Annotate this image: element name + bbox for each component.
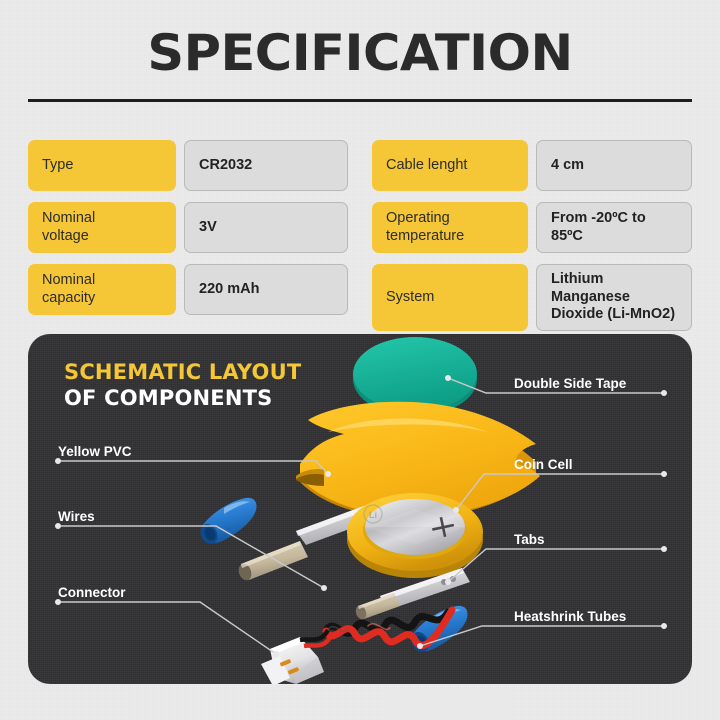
heatshrink-tube-part [354,593,400,621]
spec-key: Type [28,140,176,191]
callout-label-double-side-tape: Double Side Tape [514,376,626,391]
tab-strip-lower-part [354,568,470,621]
spec-row: Operatingtemperature From -20ºC to 85ºC [372,202,692,253]
spec-value: CR2032 [184,140,348,191]
page-header: SPECIFICATION [0,28,720,78]
title-divider [28,99,692,102]
spec-column-right: Cable lenght 4 cm Operatingtemperature F… [372,140,692,331]
tab-strip-upper-part [296,500,390,545]
callout-label-connector: Connector [58,585,126,600]
spec-row: Nominalcapacity 220 mAh [28,264,348,315]
spec-key: Nominalvoltage [28,202,176,253]
spec-key: System [372,264,528,331]
spec-value: From -20ºC to 85ºC [536,202,692,253]
callout-label-yellow-pvc: Yellow PVC [58,444,132,459]
schematic-panel: SCHEMATIC LAYOUT OF COMPONENTS [28,334,692,684]
battery-polarity-mark [432,517,454,537]
spec-row: Cable lenght 4 cm [372,140,692,191]
double-side-tape-part [353,337,477,416]
connector-part [261,630,332,684]
spec-key: Nominalcapacity [28,264,176,315]
spec-column-left: Type CR2032 Nominalvoltage 3V Nominalcap… [28,140,348,331]
yellow-pvc-part [296,402,540,518]
svg-text:Li: Li [369,510,377,520]
spec-row: System Lithium ManganeseDioxide (Li-MnO2… [372,264,692,331]
spec-key: Operatingtemperature [372,202,528,253]
callout-label-wires: Wires [58,509,95,524]
callout-label-heatshrink-tubes: Heatshrink Tubes [514,609,626,624]
schematic-title: SCHEMATIC LAYOUT OF COMPONENTS [64,360,301,411]
specification-table: Type CR2032 Nominalvoltage 3V Nominalcap… [28,140,692,331]
callout-label-tabs: Tabs [514,532,545,547]
blue-tube-lower-part [408,606,468,655]
spec-key: Cable lenght [372,140,528,191]
spec-row: Type CR2032 [28,140,348,191]
twisted-wires-part [326,610,452,645]
schematic-title-line-2: OF COMPONENTS [64,386,301,412]
schematic-title-line-1: SCHEMATIC LAYOUT [64,360,301,386]
spec-value: 3V [184,202,348,253]
spec-value: 220 mAh [184,264,348,315]
spec-value: Lithium ManganeseDioxide (Li-MnO2) [536,264,692,331]
callout-label-coin-cell: Coin Cell [514,457,573,472]
heatshrink-tube-part [236,541,308,582]
spec-value: 4 cm [536,140,692,191]
page-title: SPECIFICATION [0,28,720,78]
blue-tube-upper-part [197,498,257,547]
spec-row: Nominalvoltage 3V [28,202,348,253]
